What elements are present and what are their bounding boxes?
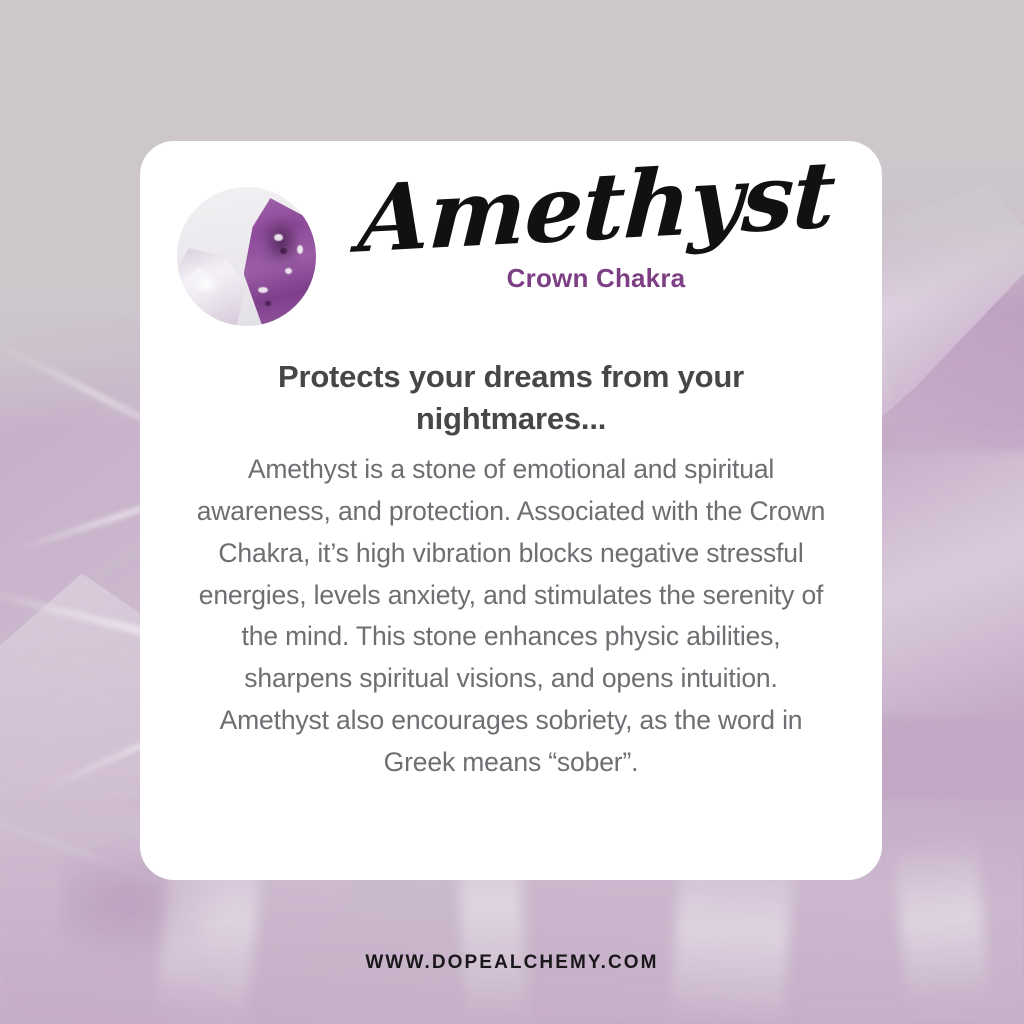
photo-inclusion-1 xyxy=(280,248,287,254)
info-card: Amethyst Crown Chakra Protects your drea… xyxy=(140,141,882,880)
photo-sparkle-2 xyxy=(285,268,292,274)
photo-sparkle-4 xyxy=(297,245,303,254)
bottom-highlight-4 xyxy=(894,836,990,1006)
photo-sparkle-3 xyxy=(258,287,268,293)
photo-crystal-shadow xyxy=(263,218,299,265)
card-header: Amethyst Crown Chakra xyxy=(140,141,882,341)
stone-title: Amethyst xyxy=(334,145,858,270)
amethyst-crystal-photo xyxy=(177,187,316,326)
site-url[interactable]: WWW.DOPEALCHEMY.COM xyxy=(0,952,1024,974)
stone-tagline: Protects your dreams from your nightmare… xyxy=(200,356,822,440)
stone-description: Amethyst is a stone of emotional and spi… xyxy=(192,449,830,784)
poster-canvas: Amethyst Crown Chakra Protects your drea… xyxy=(0,0,1024,1024)
title-block: Amethyst Crown Chakra xyxy=(336,159,856,294)
photo-inclusion-2 xyxy=(265,301,271,306)
photo-crystal-shine xyxy=(191,273,222,295)
